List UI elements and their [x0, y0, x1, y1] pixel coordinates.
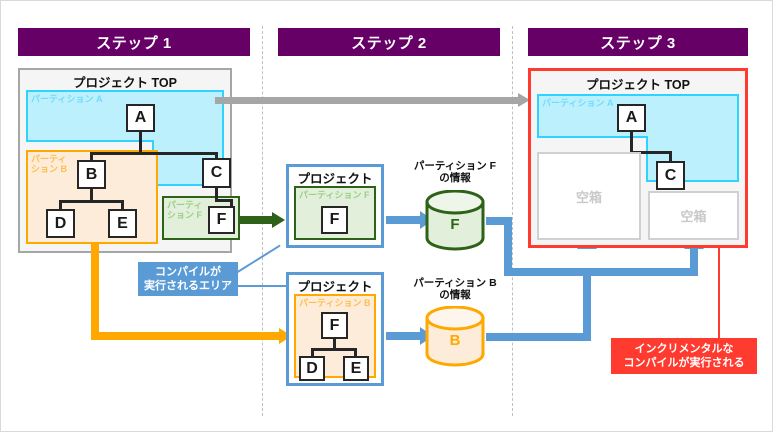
arrow-green-shaft	[240, 216, 274, 224]
node-a-step3: A	[617, 104, 646, 132]
step1-project-title: プロジェクト TOP	[18, 72, 232, 91]
db-b-label: パーティション B の情報	[398, 277, 512, 301]
arrow-blue-to-db-b-shaft	[386, 332, 424, 340]
step3-empty-box-right: 空箱	[648, 191, 739, 240]
arrow-blue-b-seg2	[583, 268, 591, 341]
step-header-3: ステップ 3	[528, 28, 748, 56]
step1-partition-a-label: パーティション A	[28, 92, 222, 104]
arrow-blue-to-db-f-shaft	[386, 216, 424, 224]
edge-a-bus	[90, 152, 218, 155]
node-f-step2-upper: F	[321, 206, 348, 234]
step2-upper-partition-label: パーティション F	[296, 188, 374, 200]
step1-partition-a: パーティション A	[26, 90, 224, 142]
step2-upper-project-title: プロジェクト	[286, 168, 384, 187]
arrow-orange-horizontal	[91, 332, 283, 340]
node-e-step2: E	[343, 356, 369, 381]
node-f-step1: F	[208, 206, 235, 234]
node-f-step2-lower: F	[321, 312, 348, 339]
arrow-orange-vertical	[91, 242, 99, 340]
incremental-compile-callout: インクリメンタルな コンパイルが実行される	[611, 338, 757, 374]
step2-lower-partition-label: パーティション B	[296, 296, 374, 308]
arrow-green-head	[272, 212, 285, 228]
diagram-canvas: ステップ 1 ステップ 2 ステップ 3 プロジェクト TOP パーティション …	[0, 0, 774, 433]
step1-partition-a-seam	[154, 138, 222, 142]
arrow-blue-b-seg1	[486, 333, 590, 341]
node-c-step1: C	[202, 158, 231, 188]
step2-lower-project-title: プロジェクト	[286, 276, 384, 295]
compile-area-callout: コンパイルが 実行されるエリア	[138, 262, 238, 296]
arrow-gray-shaft	[215, 97, 520, 104]
db-f-label: パーティション F の情報	[398, 160, 512, 184]
step3-empty-box-left: 空箱	[537, 152, 641, 240]
db-b-letter: B	[424, 322, 486, 358]
edge-f-bus-step2	[311, 348, 357, 351]
red-leader-line	[718, 248, 720, 338]
arrow-blue-f-seg3	[504, 268, 698, 276]
step3-partition-a-seam	[648, 134, 737, 138]
compile-callout-leader-lower	[236, 285, 288, 287]
arrow-blue-f-seg4	[690, 248, 698, 276]
db-f-letter: F	[424, 206, 486, 242]
node-c-step3: C	[656, 161, 685, 190]
edge-a-trunk	[139, 130, 142, 154]
node-d-step2: D	[299, 356, 325, 381]
step-header-2: ステップ 2	[278, 28, 500, 56]
node-e-step1: E	[108, 209, 137, 238]
node-a-step1: A	[126, 104, 155, 132]
step-header-1: ステップ 1	[18, 28, 250, 56]
edge-b-bus	[59, 200, 124, 203]
column-divider-2	[512, 26, 513, 416]
node-d-step1: D	[46, 209, 75, 238]
step3-project-title: プロジェクト TOP	[528, 74, 748, 93]
node-b-step1: B	[77, 160, 106, 189]
